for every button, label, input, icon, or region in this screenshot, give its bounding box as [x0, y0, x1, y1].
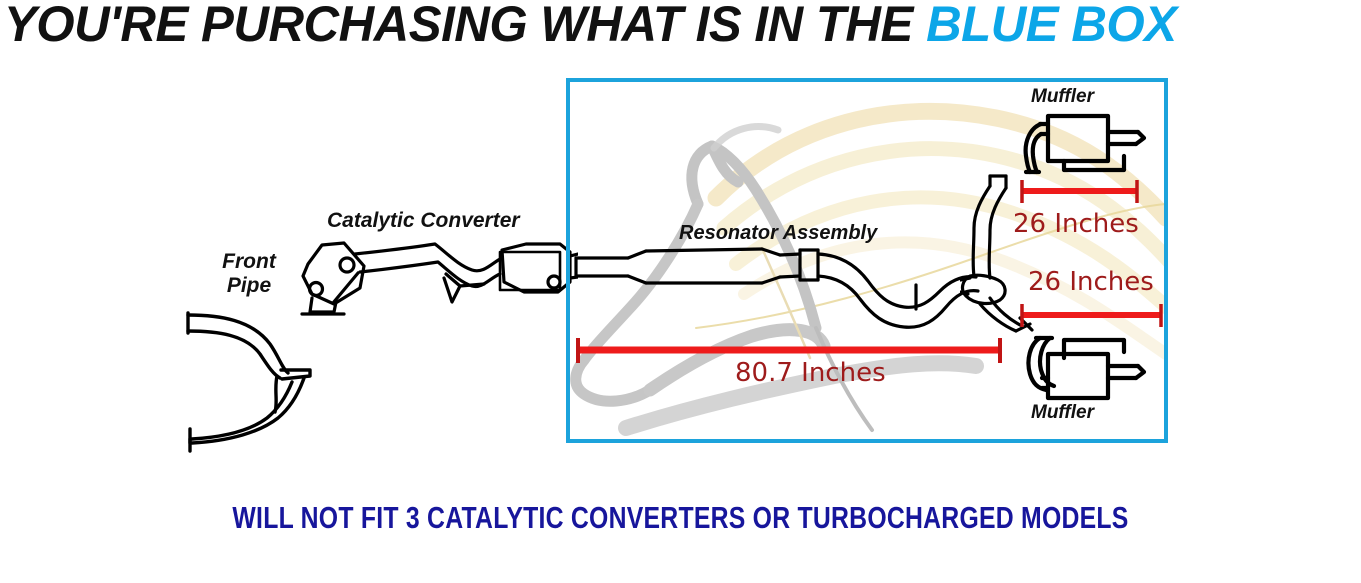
label-resonator-assembly: Resonator Assembly [679, 222, 877, 244]
catalytic-converter-drawing [288, 232, 578, 350]
header-highlight-text: BLUE BOX [926, 0, 1177, 52]
label-front-pipe-line2: Pipe [203, 274, 295, 298]
dimension-label-26-inches-bottom: 26 Inches [1028, 267, 1154, 297]
dimension-label-80-7-inches: 80.7 Inches [735, 358, 886, 388]
label-catalytic-converter: Catalytic Converter [327, 209, 520, 233]
header-plain-text: YOU'RE PURCHASING WHAT IS IN THE [4, 0, 926, 52]
dimension-label-26-inches-top: 26 Inches [1013, 209, 1139, 239]
label-muffler-bottom: Muffler [1031, 402, 1094, 423]
footer-warning-text: WILL NOT FIT 3 CATALYTIC CONVERTERS OR T… [136, 500, 1225, 536]
blue-box-included-items [566, 78, 1168, 443]
front-pipe-drawing [178, 296, 348, 456]
label-muffler-top: Muffler [1031, 86, 1094, 107]
exhaust-fitment-graphic: YOU'RE PURCHASING WHAT IS IN THE BLUE BO… [0, 0, 1361, 583]
label-front-pipe-line1: Front [203, 250, 295, 274]
label-front-pipe: Front Pipe [203, 250, 295, 297]
header-banner: YOU'RE PURCHASING WHAT IS IN THE BLUE BO… [0, 0, 1345, 52]
